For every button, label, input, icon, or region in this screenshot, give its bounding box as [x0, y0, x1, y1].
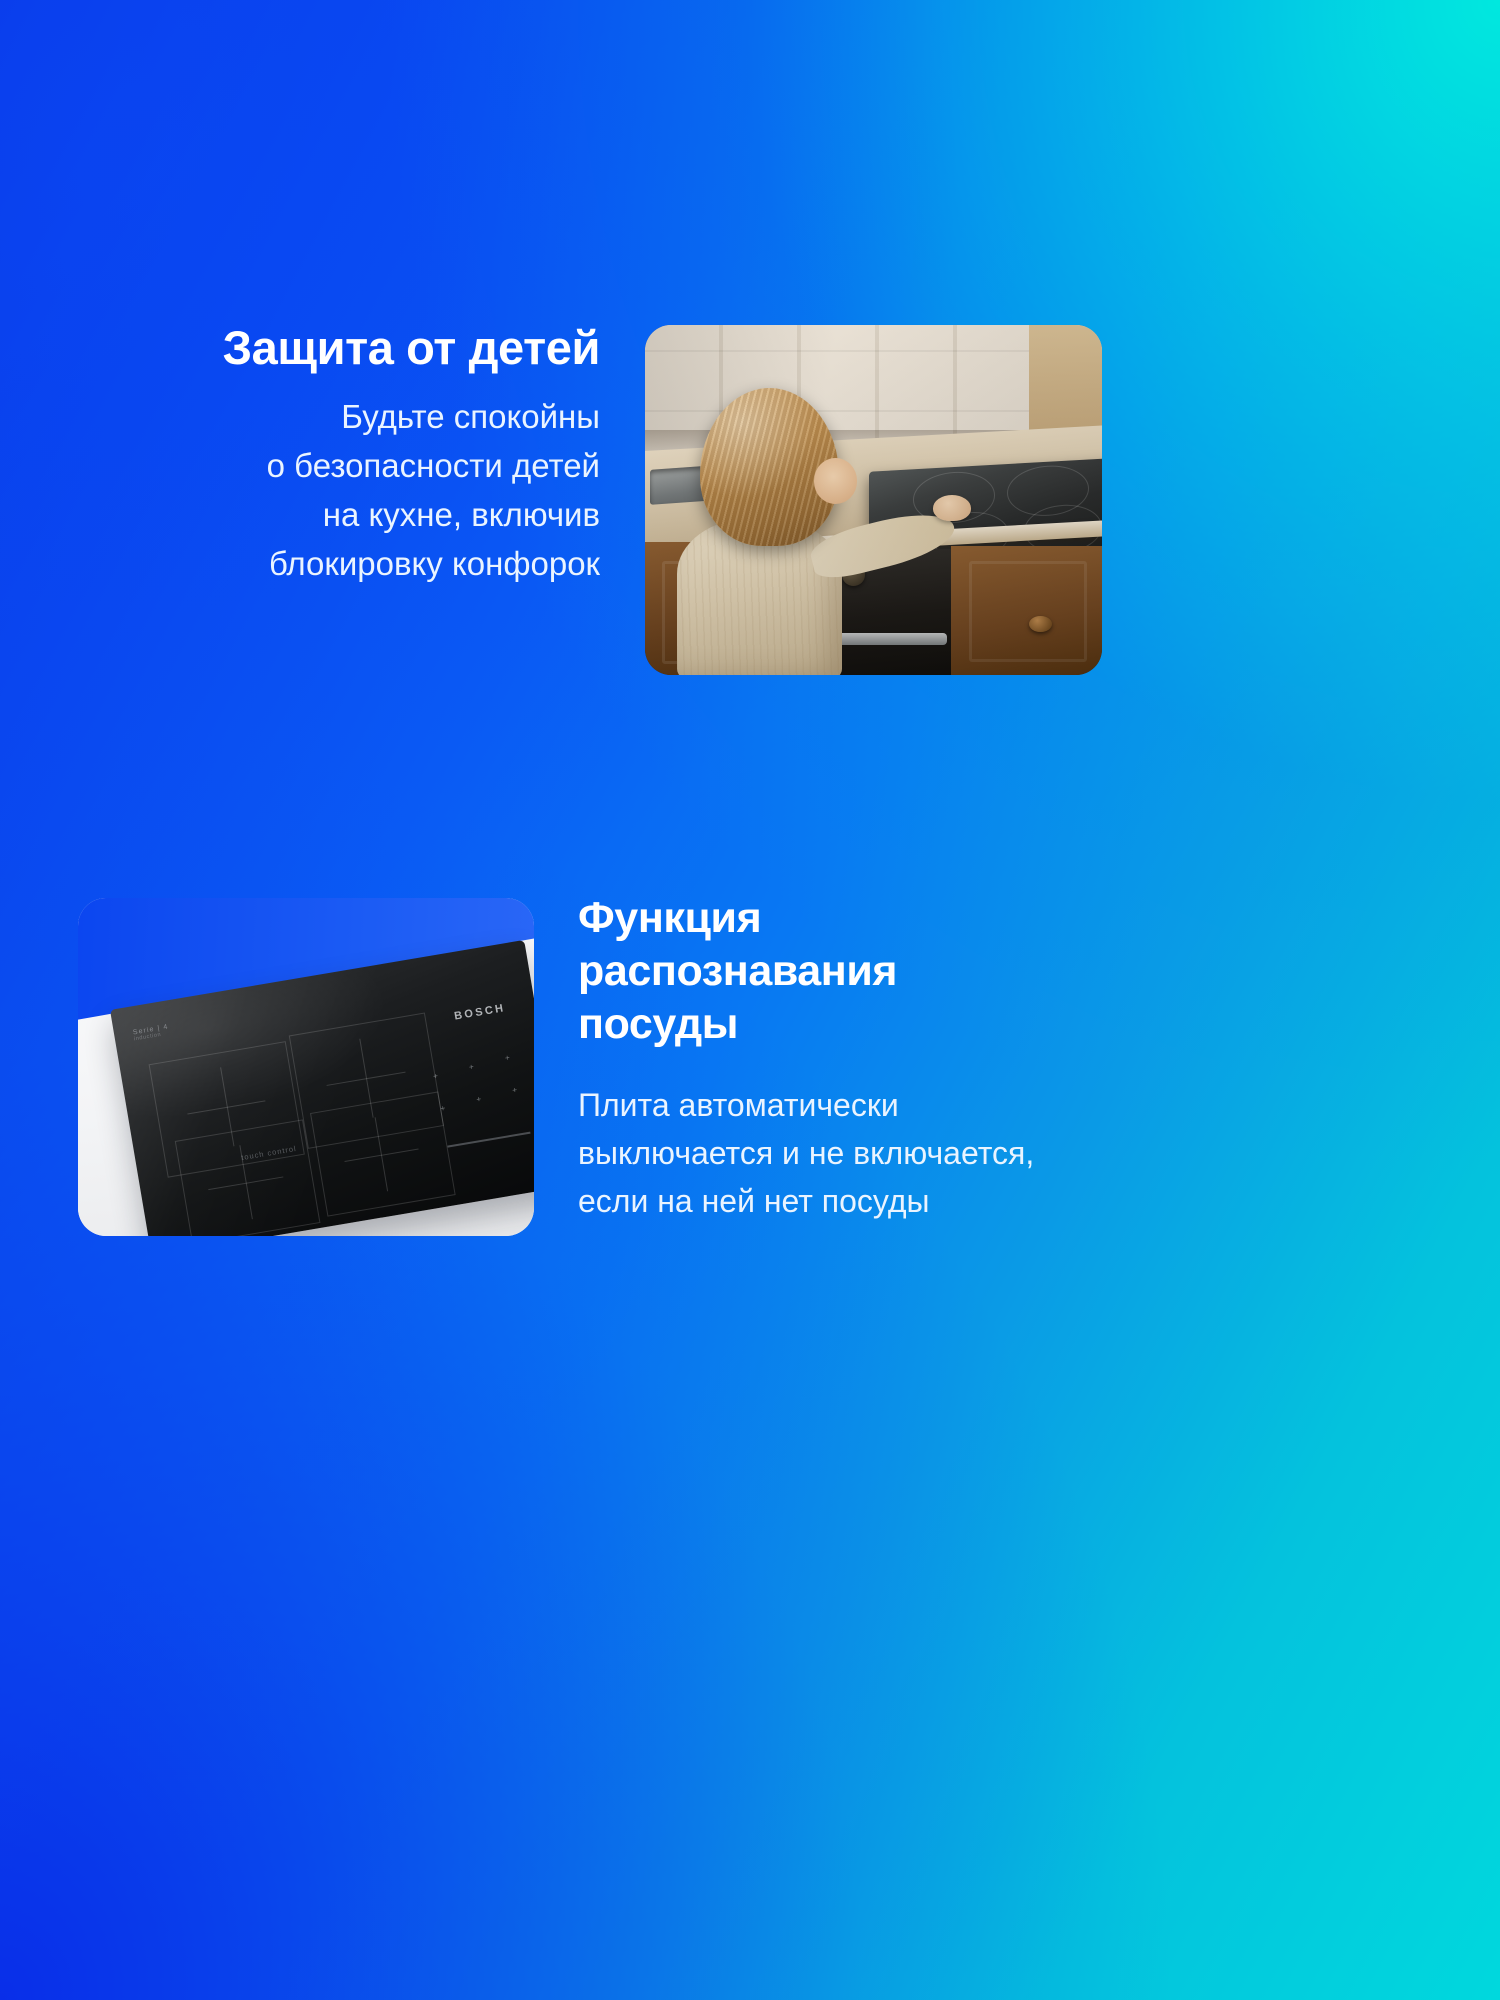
induction-hob-product-card: Serie | 4 induction BOSCH + + + + + — [78, 898, 534, 1236]
child-cheek — [814, 458, 857, 504]
bosch-logo: BOSCH — [453, 1001, 506, 1021]
hob-zone-cross — [180, 1060, 272, 1152]
control-icon: + — [512, 1085, 520, 1093]
content-stage: Защита от детей Будьте спокойны о безопа… — [0, 0, 1500, 2000]
feature-block-cookware-detection: Serie | 4 induction BOSCH + + + + + — [0, 880, 1500, 1320]
control-icon: + — [433, 1071, 441, 1079]
hob-touch-control-panel: + + + + + + — [426, 1052, 530, 1141]
child-hand — [933, 495, 971, 522]
drawer-knob — [1029, 616, 1052, 632]
feature-child-lock-body: Будьте спокойны о безопасности детей на … — [180, 392, 600, 588]
control-icon: + — [476, 1095, 484, 1103]
hob-zone-cross — [338, 1111, 425, 1198]
control-icon: + — [504, 1053, 512, 1061]
feature-child-lock-text: Защита от детей Будьте спокойны о безопа… — [180, 320, 600, 588]
control-icon: + — [440, 1104, 448, 1112]
feature-child-lock-title: Защита от детей — [180, 320, 600, 376]
control-icon: + — [468, 1062, 476, 1070]
kitchen-drawer-right — [951, 546, 1102, 676]
feature-cookware-title: Функция распознавания посуды — [578, 892, 1138, 1051]
feature-cookware-body: Плита автоматически выключается и не вкл… — [578, 1081, 1138, 1225]
child-at-cooktop-photo — [645, 325, 1102, 675]
hob-zone-cross — [320, 1032, 412, 1124]
feature-cookware-text: Функция распознавания посуды Плита автом… — [578, 892, 1138, 1225]
hob-model-label: Serie | 4 induction — [132, 1023, 170, 1042]
feature-block-child-lock: Защита от детей Будьте спокойны о безопа… — [0, 300, 1500, 720]
